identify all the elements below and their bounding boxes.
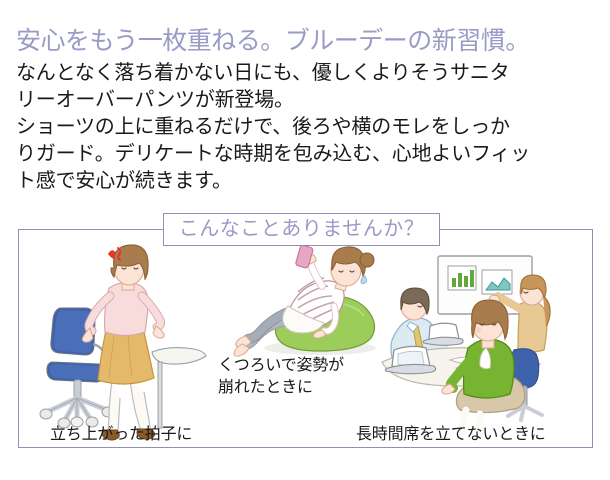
body-line: なんとなく落ち着かない日にも、優しくよりそうサニタ — [16, 60, 596, 87]
desk-icon — [152, 348, 206, 428]
scene-caption-relaxing-beanbag: くつろいで姿勢が 崩れたときに — [218, 355, 344, 399]
body-line: りガード。デリケートな時期を包み込む、心地よいフィッ — [16, 141, 596, 168]
body-line: ショーツの上に重ねるだけで、後ろや横のモレをしっか — [16, 114, 596, 141]
body-line: ト感で安心が続きます。 — [16, 168, 596, 195]
scene-caption-long-meeting: 長時間席を立てないときに — [356, 424, 546, 446]
scene-caption-standing-up: 立ち上がった拍子に — [50, 424, 192, 446]
illustration-relaxing-beanbag — [222, 244, 392, 444]
illustration-standing-up — [30, 244, 225, 444]
section-badge: こんなことありませんか？ — [163, 213, 440, 246]
illustration-long-meeting — [380, 244, 590, 444]
page-title: 安心をもう一枚重ねる。ブルーデーの新習慣。 — [16, 26, 530, 56]
body-copy: なんとなく落ち着かない日にも、優しくよりそうサニタ リーオーバーパンツが新登場。… — [16, 60, 596, 195]
body-line: リーオーバーパンツが新登場。 — [16, 87, 596, 114]
